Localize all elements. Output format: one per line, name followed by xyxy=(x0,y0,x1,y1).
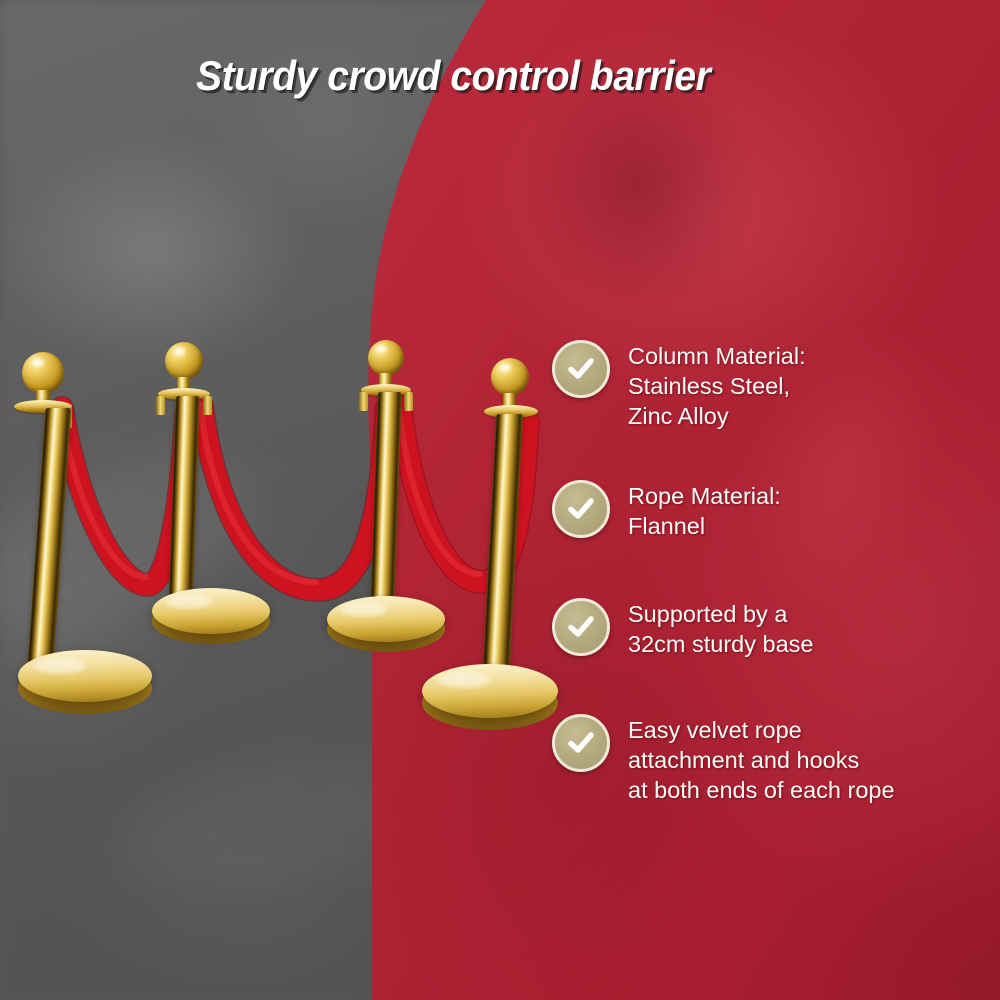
stanchion-3-base xyxy=(327,596,445,642)
page-title: Sturdy crowd control barrier xyxy=(196,52,828,100)
feature-item-1: Column Material: Stainless Steel, Zinc A… xyxy=(552,340,806,431)
product-image-canvas: Sturdy crowd control barrier xyxy=(0,0,1000,1000)
stanchion-3-rope-hook-left xyxy=(359,392,368,411)
stanchion-1-base xyxy=(18,650,152,702)
check-circle-icon xyxy=(552,714,610,772)
check-circle-icon xyxy=(552,480,610,538)
feature-item-4: Easy velvet rope attachment and hooks at… xyxy=(552,714,895,805)
stanchion-2-base-highlight xyxy=(166,595,212,609)
feature-item-3-label: Supported by a 32cm sturdy base xyxy=(628,598,813,659)
stanchion-3-rope-hook-right xyxy=(404,392,413,411)
feature-item-2: Rope Material: Flannel xyxy=(552,480,781,541)
check-circle-icon xyxy=(552,598,610,656)
stanchion-2-base xyxy=(152,588,270,634)
stanchion-2-ball-finial xyxy=(165,342,203,380)
check-circle-icon xyxy=(552,340,610,398)
feature-item-4-label: Easy velvet rope attachment and hooks at… xyxy=(628,714,895,805)
feature-item-1-label: Column Material: Stainless Steel, Zinc A… xyxy=(628,340,806,431)
feature-item-2-label: Rope Material: Flannel xyxy=(628,480,781,541)
stanchion-4-ball-finial xyxy=(491,358,529,396)
stanchion-3-ball-finial xyxy=(368,340,404,376)
stanchion-1-base-highlight xyxy=(34,658,86,674)
stanchion-4-base xyxy=(422,664,558,718)
stanchion-4-base-highlight xyxy=(438,672,490,688)
feature-item-3: Supported by a 32cm sturdy base xyxy=(552,598,813,659)
stanchion-3-base-highlight xyxy=(341,603,387,617)
stanchion-1-ball-finial xyxy=(22,352,64,394)
stanchion-2-rope-hook-right xyxy=(203,396,212,415)
stanchion-2-rope-hook-left xyxy=(156,396,165,415)
